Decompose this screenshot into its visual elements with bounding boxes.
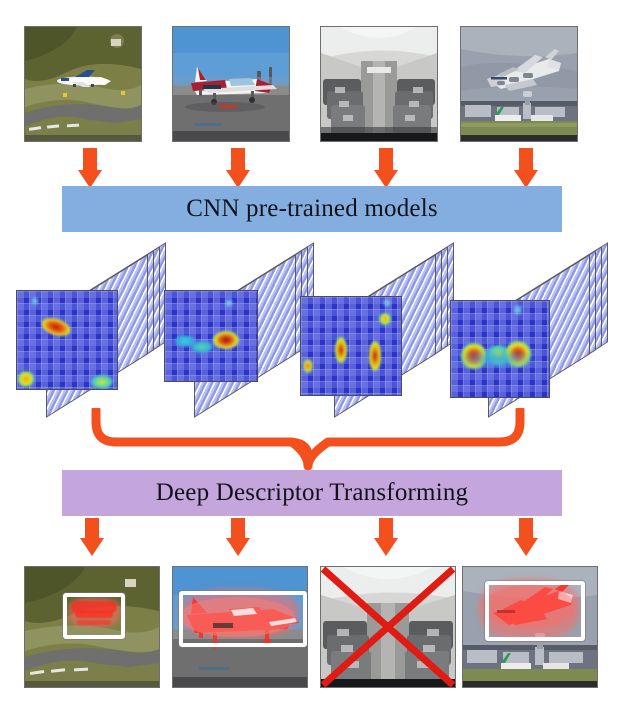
feature-map-front-4 <box>450 300 550 398</box>
input-image-2 <box>172 26 290 142</box>
result-bbox-1 <box>63 593 125 639</box>
feature-map-stack-3 <box>300 238 460 420</box>
feature-map-stack-1 <box>12 238 172 420</box>
reject-cross-icon <box>321 567 455 687</box>
arrow-image-to-cnn-3 <box>366 148 406 188</box>
input-image-3 <box>320 26 438 142</box>
feature-map-front-1 <box>16 290 118 390</box>
result-image-2 <box>172 566 308 688</box>
arrow-image-to-cnn-2 <box>218 148 258 188</box>
result-bbox-2 <box>179 591 307 647</box>
arrow-image-to-cnn-1 <box>70 148 110 188</box>
arrow-ddt-to-result-3 <box>366 518 406 558</box>
ddt-banner: Deep Descriptor Transforming <box>62 470 562 516</box>
ddt-banner-label: Deep Descriptor Transforming <box>156 479 469 507</box>
feature-map-stack-4 <box>448 238 628 420</box>
arrow-image-to-cnn-4 <box>506 148 546 188</box>
feature-map-front-2 <box>164 290 258 382</box>
cnn-banner-label: CNN pre-trained models <box>186 195 438 223</box>
arrow-ddt-to-result-4 <box>506 518 546 558</box>
result-image-3 <box>320 566 456 688</box>
result-image-1 <box>24 566 160 688</box>
feature-map-front-3 <box>300 296 402 396</box>
feature-map-stack-2 <box>160 238 320 420</box>
arrow-ddt-to-result-2 <box>218 518 258 558</box>
input-image-1 <box>24 26 142 142</box>
input-image-4 <box>460 26 578 142</box>
result-image-4 <box>462 566 598 688</box>
result-bbox-4 <box>485 581 585 641</box>
arrow-ddt-to-result-1 <box>72 518 112 558</box>
figure-canvas: CNN pre-trained models <box>0 0 640 715</box>
converging-brace <box>60 408 560 470</box>
cnn-banner: CNN pre-trained models <box>62 186 562 232</box>
